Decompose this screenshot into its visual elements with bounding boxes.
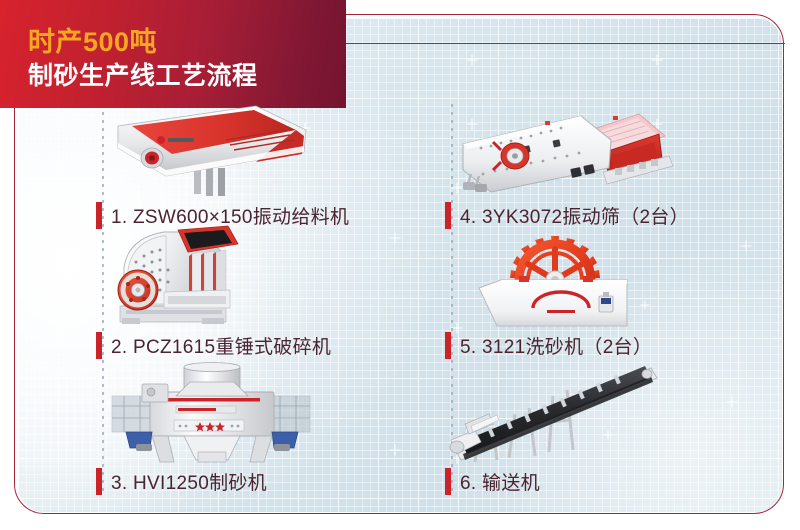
banner-title-primary: 时产500吨 (28, 20, 157, 59)
vibrating-screen-svg (453, 96, 703, 196)
vibrating-screen-icon (453, 96, 753, 200)
item-label-row: 6. 输送机 (445, 464, 540, 498)
list-item-label: 5. 3121洗砂机（2台） (460, 332, 652, 359)
list-item-label: 2. PCZ1615重锤式破碎机 (111, 332, 331, 359)
sand-washer-icon (463, 234, 763, 338)
list-item[interactable]: 3. HVI1250制砂机 (96, 362, 426, 502)
item-marker-bar (96, 468, 102, 495)
item-marker-bar (445, 202, 451, 229)
item-marker-bar (445, 468, 451, 495)
hammer-crusher-icon (106, 222, 406, 326)
item-marker-bar (96, 332, 102, 359)
list-item[interactable]: 1. ZSW600×150振动给料机 (96, 96, 426, 236)
list-item[interactable]: 5. 3121洗砂机（2台） (445, 226, 775, 366)
item-marker-bar (445, 332, 451, 359)
vibrating-feeder-svg (106, 96, 326, 196)
sand-maker-icon (106, 362, 406, 466)
banner-title-secondary: 制砂生产线工艺流程 (28, 56, 258, 92)
list-item-label: 3. HVI1250制砂机 (111, 468, 267, 495)
list-item[interactable]: 6. 输送机 (445, 362, 775, 502)
sand-maker-svg (106, 362, 326, 466)
title-banner: 时产500吨 制砂生产线工艺流程 (0, 0, 346, 108)
list-item[interactable]: 2. PCZ1615重锤式破碎机 (96, 226, 426, 366)
process-flow-poster: 时产500吨 制砂生产线工艺流程 (0, 0, 800, 530)
sand-washer-svg (463, 234, 683, 334)
list-item-label: 4. 3YK3072振动筛（2台） (460, 202, 689, 229)
list-item[interactable]: 4. 3YK3072振动筛（2台） (445, 96, 775, 236)
belt-conveyor-icon (445, 362, 745, 466)
item-label-row: 3. HVI1250制砂机 (96, 464, 267, 498)
belt-conveyor-svg (445, 362, 675, 466)
item-marker-bar (96, 202, 102, 229)
hammer-crusher-svg (106, 222, 326, 330)
vibrating-feeder-icon (106, 96, 406, 200)
item-label-row: 2. PCZ1615重锤式破碎机 (96, 328, 331, 362)
item-label-row: 5. 3121洗砂机（2台） (445, 328, 652, 362)
header-rule (330, 43, 785, 44)
list-item-label: 6. 输送机 (460, 468, 540, 495)
